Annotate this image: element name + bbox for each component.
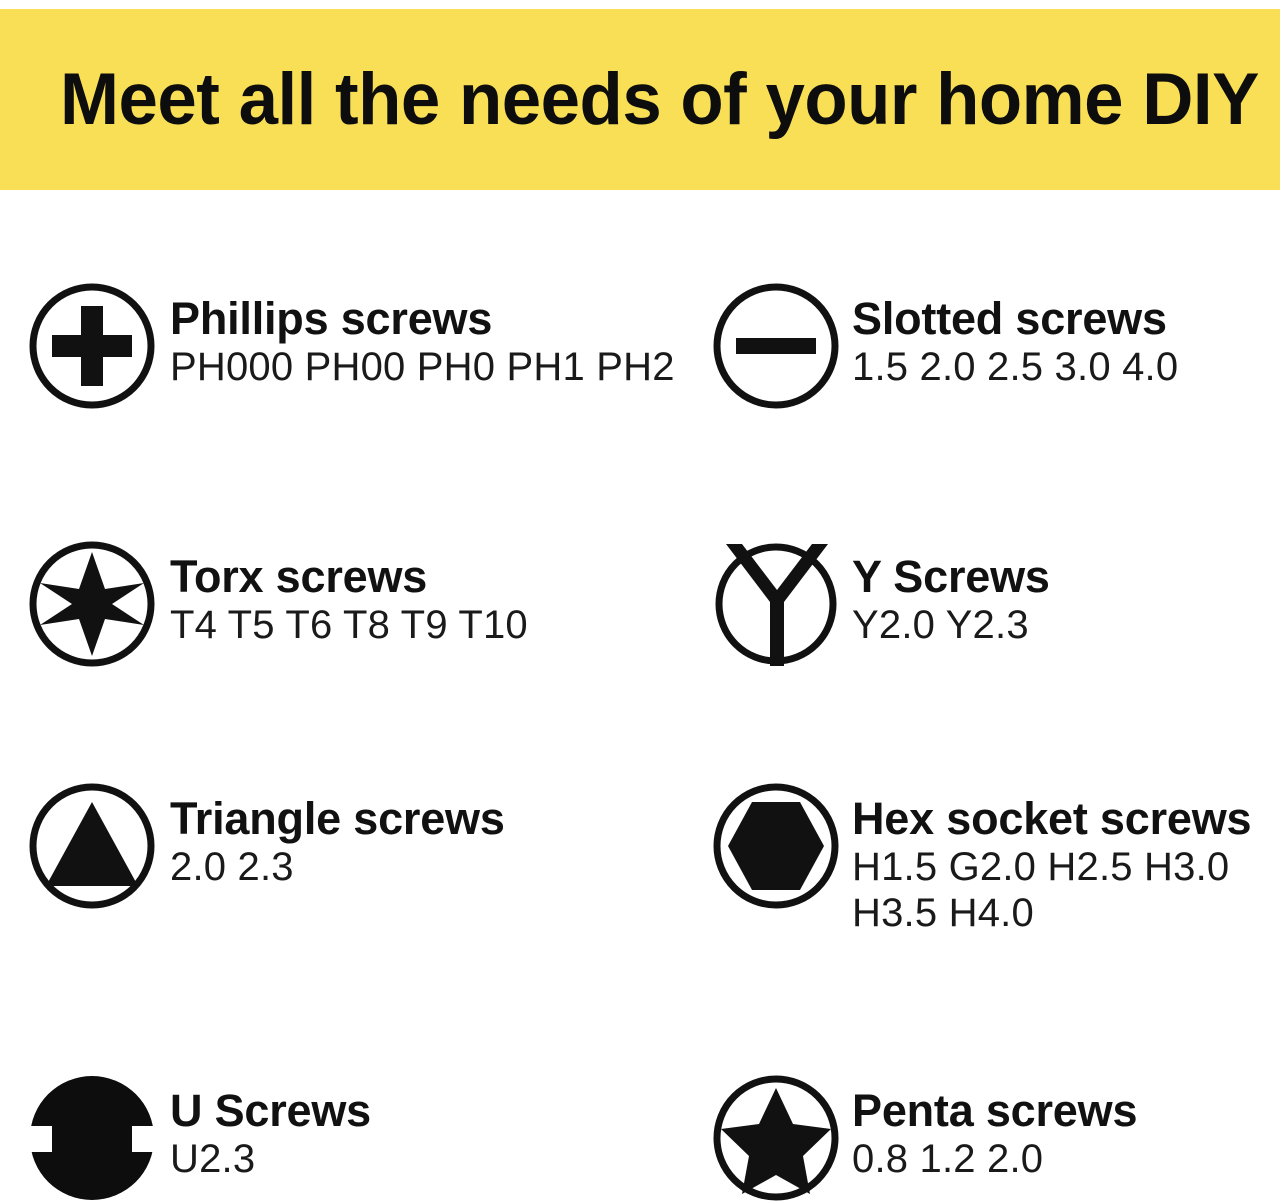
screw-title: U Screws (170, 1087, 371, 1135)
screw-sizes: U2.3 (170, 1137, 371, 1183)
triangle-icon (28, 782, 156, 910)
slotted-flat-icon (712, 282, 840, 410)
y-shape-icon (712, 540, 840, 668)
screw-sizes: 1.5 2.0 2.5 3.0 4.0 (852, 345, 1178, 391)
screw-entry-labels: Y Screws Y2.0 Y2.3 (852, 540, 1050, 648)
screw-sizes: H1.5 G2.0 H2.5 H3.0 H3.5 H4.0 (852, 845, 1251, 937)
size-line: 1.5 2.0 2.5 3.0 4.0 (852, 345, 1178, 391)
screw-entry-y-screws: Y Screws Y2.0 Y2.3 (712, 540, 1050, 668)
screw-title: Phillips screws (170, 295, 675, 343)
screw-sizes: T4 T5 T6 T8 T9 T10 (170, 603, 528, 649)
screw-entry-penta: Penta screws 0.8 1.2 2.0 (712, 1074, 1137, 1202)
hexagon-icon (712, 782, 840, 910)
screw-title: Hex socket screws (852, 795, 1251, 843)
size-line: PH000 PH00 PH0 PH1 PH2 (170, 345, 675, 391)
screw-entry-labels: Phillips screws PH000 PH00 PH0 PH1 PH2 (170, 282, 675, 390)
screw-entry-labels: Hex socket screws H1.5 G2.0 H2.5 H3.0 H3… (852, 782, 1251, 937)
screw-title: Slotted screws (852, 295, 1178, 343)
screw-sizes: 0.8 1.2 2.0 (852, 1137, 1137, 1183)
screw-title: Triangle screws (170, 795, 505, 843)
penta-five-point-star-icon (712, 1074, 840, 1202)
phillips-cross-icon (28, 282, 156, 410)
page-title: Meet all the needs of your home DIY (60, 63, 1259, 136)
size-line: T4 T5 T6 T8 T9 T10 (170, 603, 528, 649)
screw-title: Y Screws (852, 553, 1050, 601)
screw-sizes: PH000 PH00 PH0 PH1 PH2 (170, 345, 675, 391)
size-line: 0.8 1.2 2.0 (852, 1137, 1137, 1183)
screw-entry-hex-socket: Hex socket screws H1.5 G2.0 H2.5 H3.0 H3… (712, 782, 1251, 937)
screw-title: Torx screws (170, 553, 528, 601)
screw-entry-labels: Slotted screws 1.5 2.0 2.5 3.0 4.0 (852, 282, 1178, 390)
u-notched-circle-icon (28, 1074, 156, 1202)
screw-entry-torx: Torx screws T4 T5 T6 T8 T9 T10 (28, 540, 528, 668)
screw-entry-labels: U Screws U2.3 (170, 1074, 371, 1182)
size-line: Y2.0 Y2.3 (852, 603, 1050, 649)
screw-sizes: 2.0 2.3 (170, 845, 505, 891)
screw-entry-phillips: Phillips screws PH000 PH00 PH0 PH1 PH2 (28, 282, 675, 410)
header-banner: Meet all the needs of your home DIY (0, 9, 1280, 190)
torx-six-point-star-icon (28, 540, 156, 668)
screw-title: Penta screws (852, 1087, 1137, 1135)
screw-entry-triangle: Triangle screws 2.0 2.3 (28, 782, 505, 910)
screw-entry-slotted: Slotted screws 1.5 2.0 2.5 3.0 4.0 (712, 282, 1178, 410)
screw-sizes: Y2.0 Y2.3 (852, 603, 1050, 649)
screw-entry-labels: Torx screws T4 T5 T6 T8 T9 T10 (170, 540, 528, 648)
size-line: H1.5 G2.0 H2.5 H3.0 (852, 845, 1251, 891)
screw-entry-labels: Triangle screws 2.0 2.3 (170, 782, 505, 890)
screw-entry-u-screws: U Screws U2.3 (28, 1074, 371, 1202)
size-line: U2.3 (170, 1137, 371, 1183)
screw-type-grid: Phillips screws PH000 PH00 PH0 PH1 PH2 S… (0, 190, 1280, 1194)
size-line: 2.0 2.3 (170, 845, 505, 891)
screw-entry-labels: Penta screws 0.8 1.2 2.0 (852, 1074, 1137, 1182)
size-line: H3.5 H4.0 (852, 891, 1251, 937)
